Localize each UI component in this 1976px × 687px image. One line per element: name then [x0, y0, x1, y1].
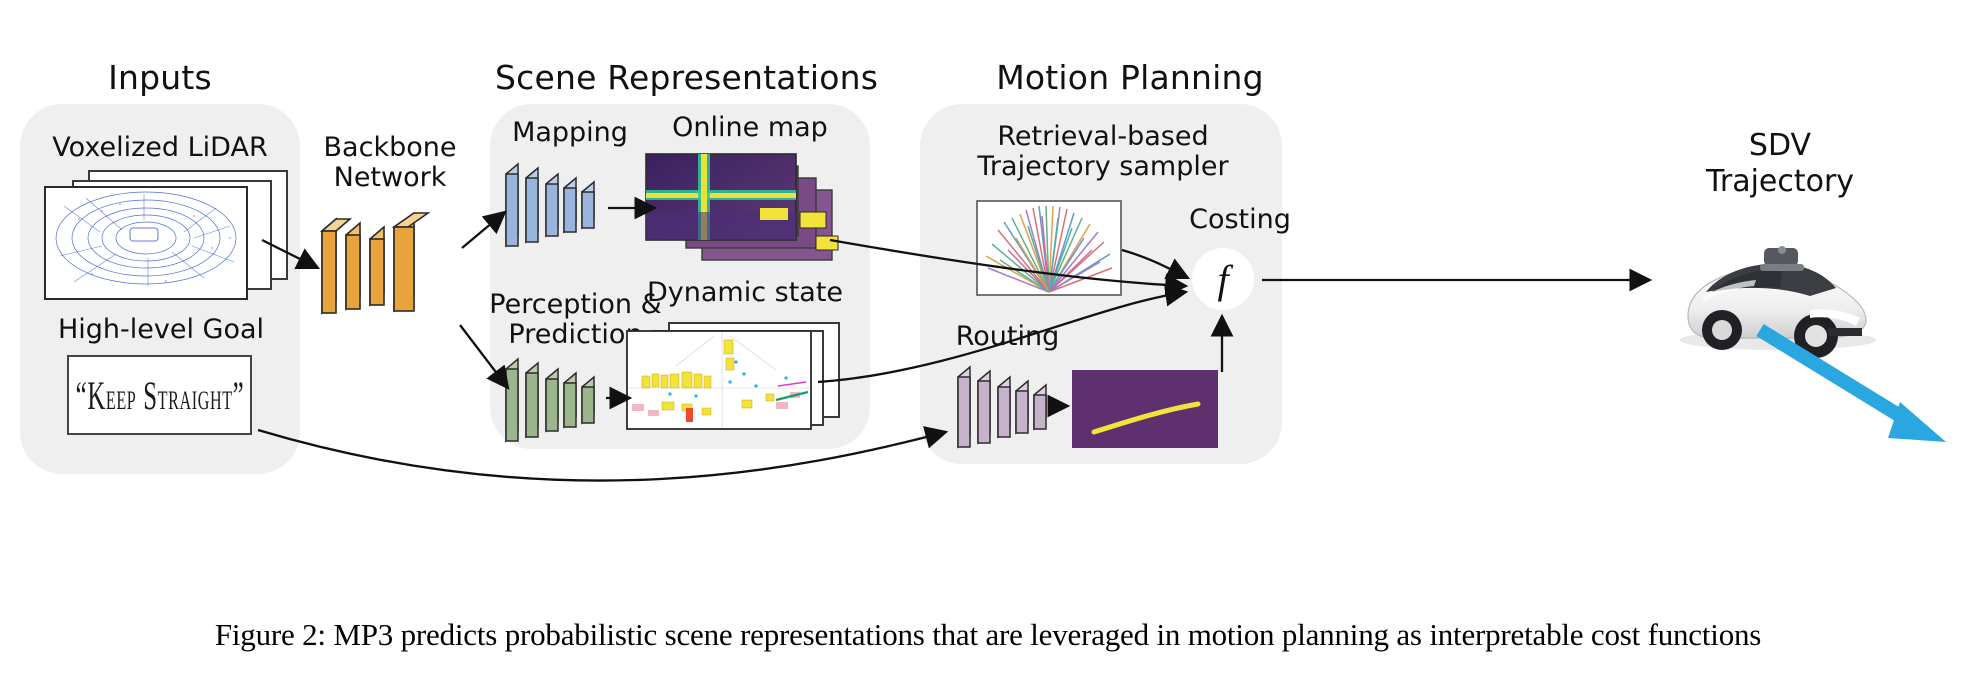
figure-root: Inputs Scene Representations Motion Plan… — [0, 0, 1976, 687]
arrow-backbone-to-perception — [460, 325, 508, 388]
arrow-onlinemap-to-costing — [830, 240, 1186, 286]
connectors — [0, 0, 1976, 687]
arrow-goal-to-routing — [258, 430, 946, 481]
arrow-sampler-to-costing — [1122, 250, 1188, 278]
arrow-dynamicstate-to-costing — [818, 292, 1186, 382]
arrow-backbone-to-mapping — [462, 212, 505, 248]
arrow-lidar-to-backbone — [262, 240, 318, 268]
figure-caption: Figure 2: MP3 predicts probabilistic sce… — [0, 617, 1976, 653]
